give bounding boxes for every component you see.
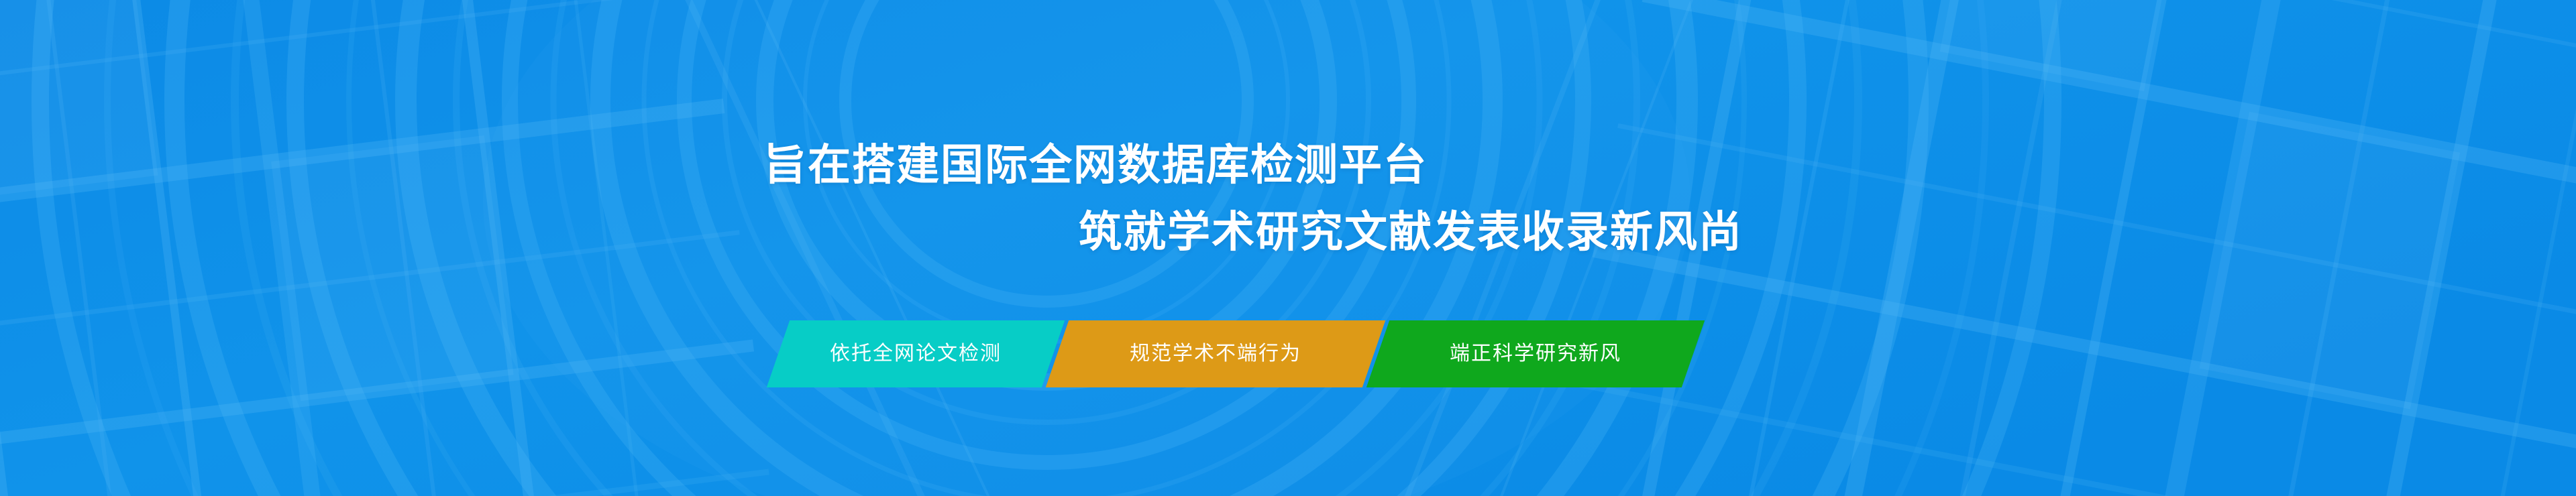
feature-tag-2-label: 规范学术不端行为	[1130, 344, 1301, 364]
feature-tag-3-label: 端正科学研究新风	[1450, 344, 1621, 364]
headline-line-1: 旨在搭建国际全网数据库检测平台	[0, 131, 2576, 198]
feature-tag-band: 依托全网论文检测 规范学术不端行为 端正科学研究新风	[778, 320, 1693, 387]
promo-banner: 旨在搭建国际全网数据库检测平台 筑就学术研究文献发表收录新风尚 依托全网论文检测…	[0, 0, 2576, 496]
feature-tag-1-label: 依托全网论文检测	[830, 344, 1002, 364]
feature-tag-2[interactable]: 规范学术不端行为	[1046, 320, 1385, 387]
feature-tag-3[interactable]: 端正科学研究新风	[1366, 320, 1705, 387]
headline-block: 旨在搭建国际全网数据库检测平台 筑就学术研究文献发表收录新风尚	[0, 131, 2576, 265]
feature-tag-1[interactable]: 依托全网论文检测	[767, 320, 1065, 387]
headline-line-2: 筑就学术研究文献发表收录新风尚	[0, 198, 2576, 265]
